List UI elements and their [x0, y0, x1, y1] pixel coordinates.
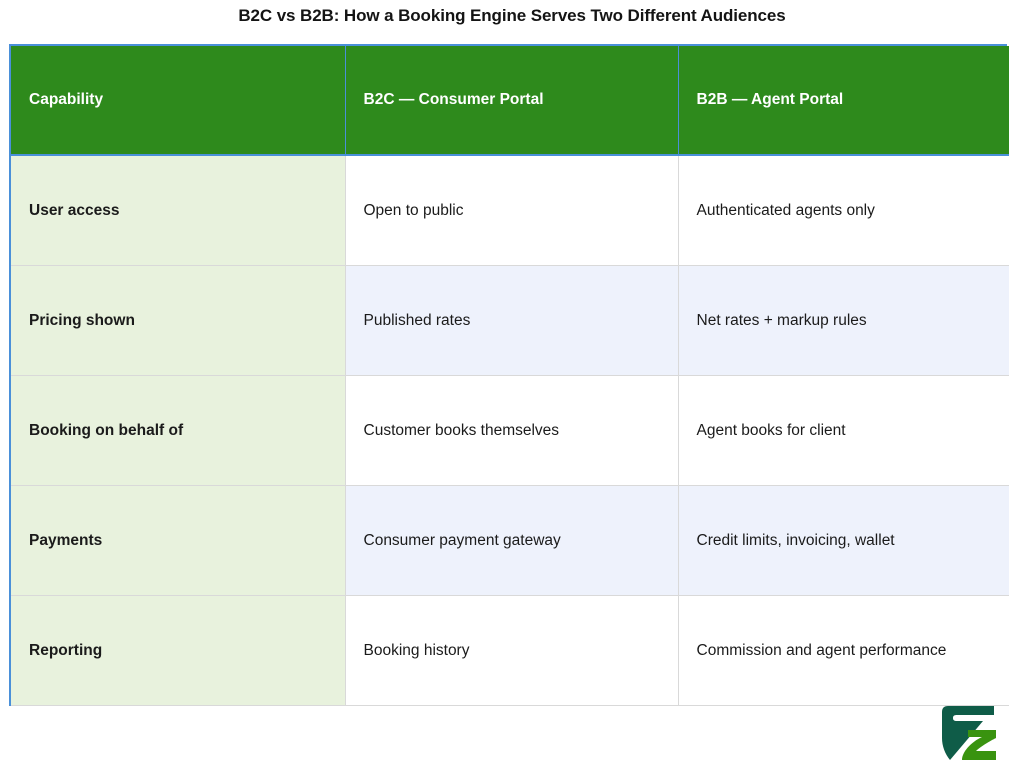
column-header-b2c: B2C — Consumer Portal — [345, 46, 678, 155]
table-row: Pricing shown Published rates Net rates … — [11, 266, 1009, 376]
cell-b2c: Published rates — [345, 266, 678, 376]
cell-b2c: Customer books themselves — [345, 376, 678, 486]
cell-b2b: Authenticated agents only — [678, 155, 1009, 266]
column-header-b2b: B2B — Agent Portal — [678, 46, 1009, 155]
table-row: Booking on behalf of Customer books them… — [11, 376, 1009, 486]
table-row: User access Open to public Authenticated… — [11, 155, 1009, 266]
cell-capability: Booking on behalf of — [11, 376, 345, 486]
column-header-capability: Capability — [11, 46, 345, 155]
cell-b2b: Commission and agent performance — [678, 596, 1009, 706]
comparison-table-container: Capability B2C — Consumer Portal B2B — A… — [9, 44, 1007, 706]
cell-b2c: Booking history — [345, 596, 678, 706]
page-title: B2C vs B2B: How a Booking Engine Serves … — [0, 0, 1024, 27]
cell-b2b: Credit limits, invoicing, wallet — [678, 486, 1009, 596]
cell-capability: Pricing shown — [11, 266, 345, 376]
cell-b2c: Consumer payment gateway — [345, 486, 678, 596]
table-header-row: Capability B2C — Consumer Portal B2B — A… — [11, 46, 1009, 155]
table-row: Payments Consumer payment gateway Credit… — [11, 486, 1009, 596]
comparison-table: Capability B2C — Consumer Portal B2B — A… — [11, 46, 1009, 706]
cell-capability: User access — [11, 155, 345, 266]
cell-capability: Reporting — [11, 596, 345, 706]
table-row: Reporting Booking history Commission and… — [11, 596, 1009, 706]
cell-b2b: Agent books for client — [678, 376, 1009, 486]
cell-b2b: Net rates + markup rules — [678, 266, 1009, 376]
brand-logo-icon — [938, 704, 1002, 762]
cell-b2c: Open to public — [345, 155, 678, 266]
cell-capability: Payments — [11, 486, 345, 596]
table-body: User access Open to public Authenticated… — [11, 155, 1009, 706]
table-header: Capability B2C — Consumer Portal B2B — A… — [11, 46, 1009, 155]
